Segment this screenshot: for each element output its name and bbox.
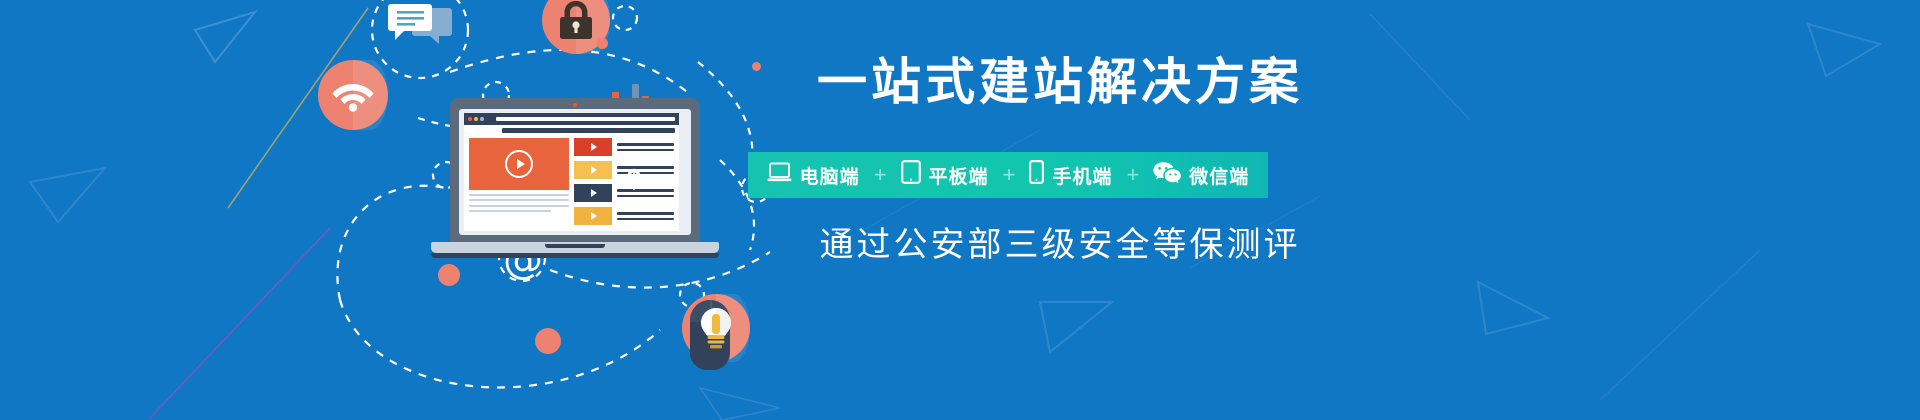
badge-item-wechat[interactable]: 微信端 [1153, 161, 1249, 189]
chat-bubble-icon [385, 2, 455, 52]
website-mockup [464, 113, 679, 231]
laptop-icon [767, 162, 792, 189]
promo-banner: $ @ [0, 0, 1920, 420]
mockup-body [464, 133, 679, 225]
banner-content: 一站式建站解决方案 电脑端 + [780, 0, 1340, 420]
badge-label-tablet: 平板端 [929, 162, 989, 189]
laptop-trackpad-notch [545, 244, 605, 248]
video-tile [574, 138, 612, 156]
video-tile [574, 207, 612, 225]
badge-item-tablet[interactable]: 平板端 [901, 160, 989, 190]
laptop-foot [431, 253, 719, 258]
coin-symbol: $ [627, 166, 641, 192]
laptop-lid [450, 98, 700, 243]
badge-label-wechat: 微信端 [1189, 162, 1249, 189]
browser-dot-gray [480, 117, 484, 121]
platform-badge-bar: 电脑端 + 平板端 + [748, 152, 1268, 198]
browser-dot-yellow [474, 117, 478, 121]
phone-icon [1029, 160, 1044, 190]
hero-illustration: $ @ [300, 0, 780, 420]
badge-separator-plus: + [1126, 164, 1139, 186]
laptop-screen [459, 109, 691, 235]
video-thumbnail [469, 138, 569, 190]
mockup-thumbnail-column [574, 138, 612, 225]
badge-separator-plus: + [1003, 164, 1016, 186]
accent-dot [752, 62, 761, 71]
banner-headline: 一站式建站解决方案 [780, 57, 1340, 107]
tablet-icon [901, 160, 921, 190]
accent-dot [438, 264, 460, 286]
laptop-mockup [450, 98, 700, 263]
video-tile [574, 161, 612, 179]
banner-subheadline: 通过公安部三级安全等保测评 [780, 228, 1340, 262]
browser-bar [464, 113, 679, 125]
mockup-main-column [469, 138, 569, 225]
wifi-icon [318, 60, 388, 130]
badge-separator-plus: + [874, 164, 887, 186]
play-button-icon [505, 150, 533, 178]
video-tile [574, 184, 612, 202]
badge-label-phone: 手机端 [1052, 162, 1112, 189]
laptop-camera-dot [573, 103, 577, 107]
badge-item-phone[interactable]: 手机端 [1029, 160, 1112, 190]
browser-dot-red [468, 117, 472, 121]
badge-label-desktop: 电脑端 [800, 162, 860, 189]
mockup-text-column [617, 138, 674, 225]
accent-dot [535, 328, 561, 354]
wechat-icon [1153, 161, 1181, 189]
accent-dot [597, 38, 608, 49]
browser-url-bar [496, 117, 675, 121]
badge-item-desktop[interactable]: 电脑端 [767, 162, 860, 189]
